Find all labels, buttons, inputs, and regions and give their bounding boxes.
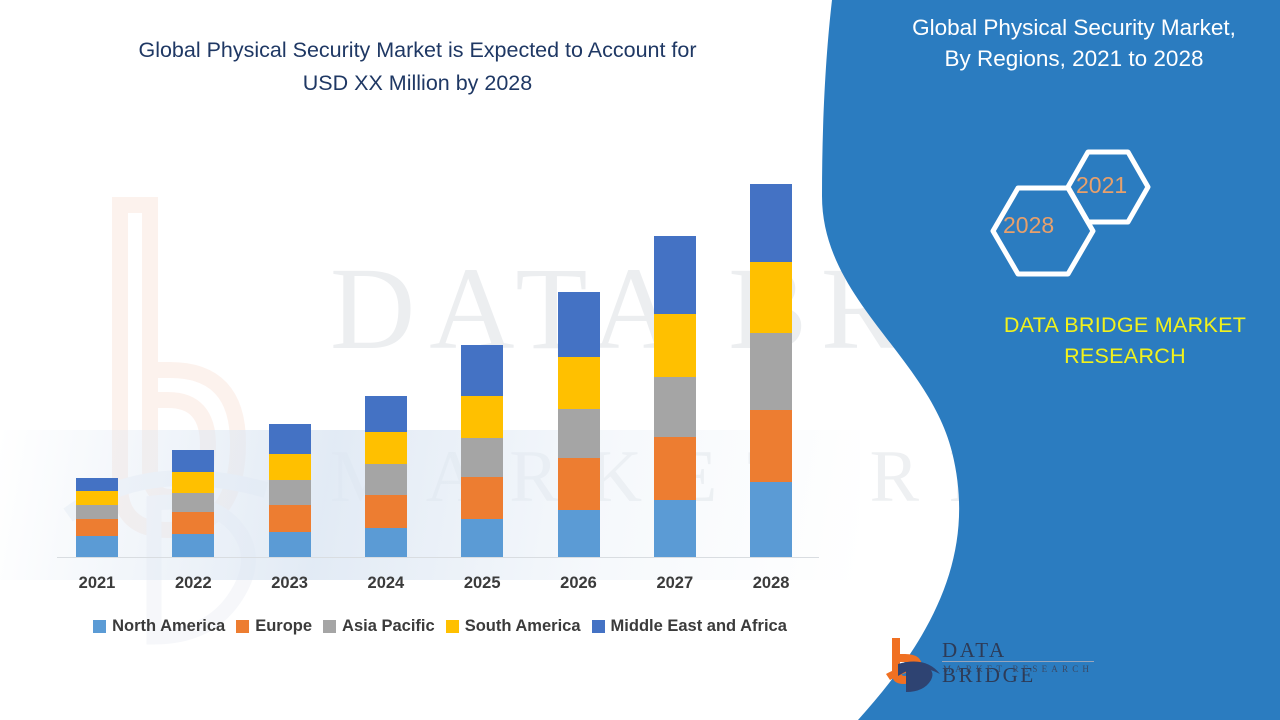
x-tick-2027: 2027 [635, 574, 715, 593]
bar-2028 [750, 184, 792, 557]
bar-segment-2022-south-america [172, 472, 214, 493]
bar-segment-2022-middle-east-and-africa [172, 450, 214, 472]
bar-segment-2026-north-america [558, 510, 600, 557]
bar-segment-2024-north-america [365, 528, 407, 557]
hexagon-badges: 2021 2028 [980, 140, 1180, 290]
bar-segment-2023-asia-pacific [269, 480, 311, 505]
panel-title-line-2: By Regions, 2021 to 2028 [875, 43, 1273, 74]
legend-label: South America [465, 617, 581, 636]
legend-item-south-america[interactable]: South America [446, 617, 581, 636]
bar-segment-2026-middle-east-and-africa [558, 292, 600, 357]
bar-segment-2028-europe [750, 410, 792, 482]
x-tick-2023: 2023 [250, 574, 330, 593]
legend-label: Asia Pacific [342, 617, 435, 636]
bar-2021 [76, 478, 118, 557]
bar-2022 [172, 450, 214, 557]
bar-segment-2027-asia-pacific [654, 377, 696, 437]
logo-divider [942, 661, 1094, 662]
legend-item-middle-east-and-africa[interactable]: Middle East and Africa [592, 617, 787, 636]
x-tick-2025: 2025 [442, 574, 522, 593]
bar-segment-2023-south-america [269, 454, 311, 480]
bar-segment-2028-north-america [750, 482, 792, 557]
bar-segment-2021-europe [76, 519, 118, 536]
bar-segment-2023-middle-east-and-africa [269, 424, 311, 454]
bar-segment-2027-north-america [654, 500, 696, 557]
brand-name-line-2: RESEARCH [975, 341, 1275, 372]
legend-swatch-icon [446, 620, 459, 633]
bar-segment-2025-middle-east-and-africa [461, 345, 503, 396]
x-tick-2024: 2024 [346, 574, 426, 593]
x-tick-2026: 2026 [539, 574, 619, 593]
bar-segment-2021-asia-pacific [76, 505, 118, 519]
x-tick-2022: 2022 [153, 574, 233, 593]
panel-title: Global Physical Security Market, By Regi… [875, 12, 1273, 74]
bar-segment-2025-asia-pacific [461, 438, 503, 477]
brand-name: DATA BRIDGE MARKET RESEARCH [975, 310, 1275, 372]
legend-label: Middle East and Africa [611, 617, 787, 636]
bar-segment-2023-europe [269, 505, 311, 532]
bar-segment-2025-north-america [461, 519, 503, 557]
stacked-bar-chart: 20212022202320242025202620272028 [0, 0, 840, 600]
chart-legend: North AmericaEuropeAsia PacificSouth Ame… [55, 617, 825, 636]
bar-segment-2024-south-america [365, 432, 407, 464]
bar-2024 [365, 396, 407, 557]
bar-segment-2021-north-america [76, 536, 118, 557]
bar-segment-2021-south-america [76, 491, 118, 505]
legend-swatch-icon [93, 620, 106, 633]
bar-segment-2026-asia-pacific [558, 409, 600, 458]
bar-segment-2026-south-america [558, 357, 600, 409]
logo-mark-icon [884, 634, 944, 694]
bar-segment-2028-asia-pacific [750, 333, 792, 410]
hexagon-badge-2028-label: 2028 [1003, 212, 1054, 239]
hexagon-badge-2021-label: 2021 [1076, 172, 1127, 199]
legend-swatch-icon [592, 620, 605, 633]
x-axis-line [57, 557, 819, 558]
bar-segment-2025-south-america [461, 396, 503, 438]
bar-segment-2027-europe [654, 437, 696, 500]
legend-item-north-america[interactable]: North America [93, 617, 225, 636]
bar-2025 [461, 345, 503, 557]
bar-segment-2024-middle-east-and-africa [365, 396, 407, 432]
bar-segment-2022-europe [172, 512, 214, 534]
bar-2027 [654, 236, 696, 557]
legend-label: North America [112, 617, 225, 636]
bar-segment-2024-asia-pacific [365, 464, 407, 495]
infographic-root: DATA BRIDGE MARKET RESEARCH Global Physi… [0, 0, 1280, 720]
bar-segment-2022-asia-pacific [172, 493, 214, 512]
bar-segment-2027-south-america [654, 314, 696, 377]
bar-segment-2021-middle-east-and-africa [76, 478, 118, 491]
legend-item-asia-pacific[interactable]: Asia Pacific [323, 617, 435, 636]
bar-2026 [558, 292, 600, 557]
legend-swatch-icon [323, 620, 336, 633]
logo-title: DATA BRIDGE [942, 638, 1099, 688]
brand-name-line-1: DATA BRIDGE MARKET [975, 310, 1275, 341]
bar-segment-2026-europe [558, 458, 600, 510]
bar-segment-2027-middle-east-and-africa [654, 236, 696, 314]
panel-title-line-1: Global Physical Security Market, [875, 12, 1273, 43]
legend-label: Europe [255, 617, 312, 636]
legend-swatch-icon [236, 620, 249, 633]
bar-segment-2023-north-america [269, 532, 311, 557]
bar-2023 [269, 424, 311, 557]
logo-subtitle: MARKET RESEARCH [943, 664, 1093, 674]
bar-segment-2028-middle-east-and-africa [750, 184, 792, 262]
bar-segment-2024-europe [365, 495, 407, 528]
x-tick-2028: 2028 [731, 574, 811, 593]
bar-segment-2022-north-america [172, 534, 214, 557]
x-tick-2021: 2021 [57, 574, 137, 593]
legend-item-europe[interactable]: Europe [236, 617, 312, 636]
company-logo: DATA BRIDGE MARKET RESEARCH [884, 634, 1099, 696]
bar-segment-2025-europe [461, 477, 503, 519]
bar-segment-2028-south-america [750, 262, 792, 333]
